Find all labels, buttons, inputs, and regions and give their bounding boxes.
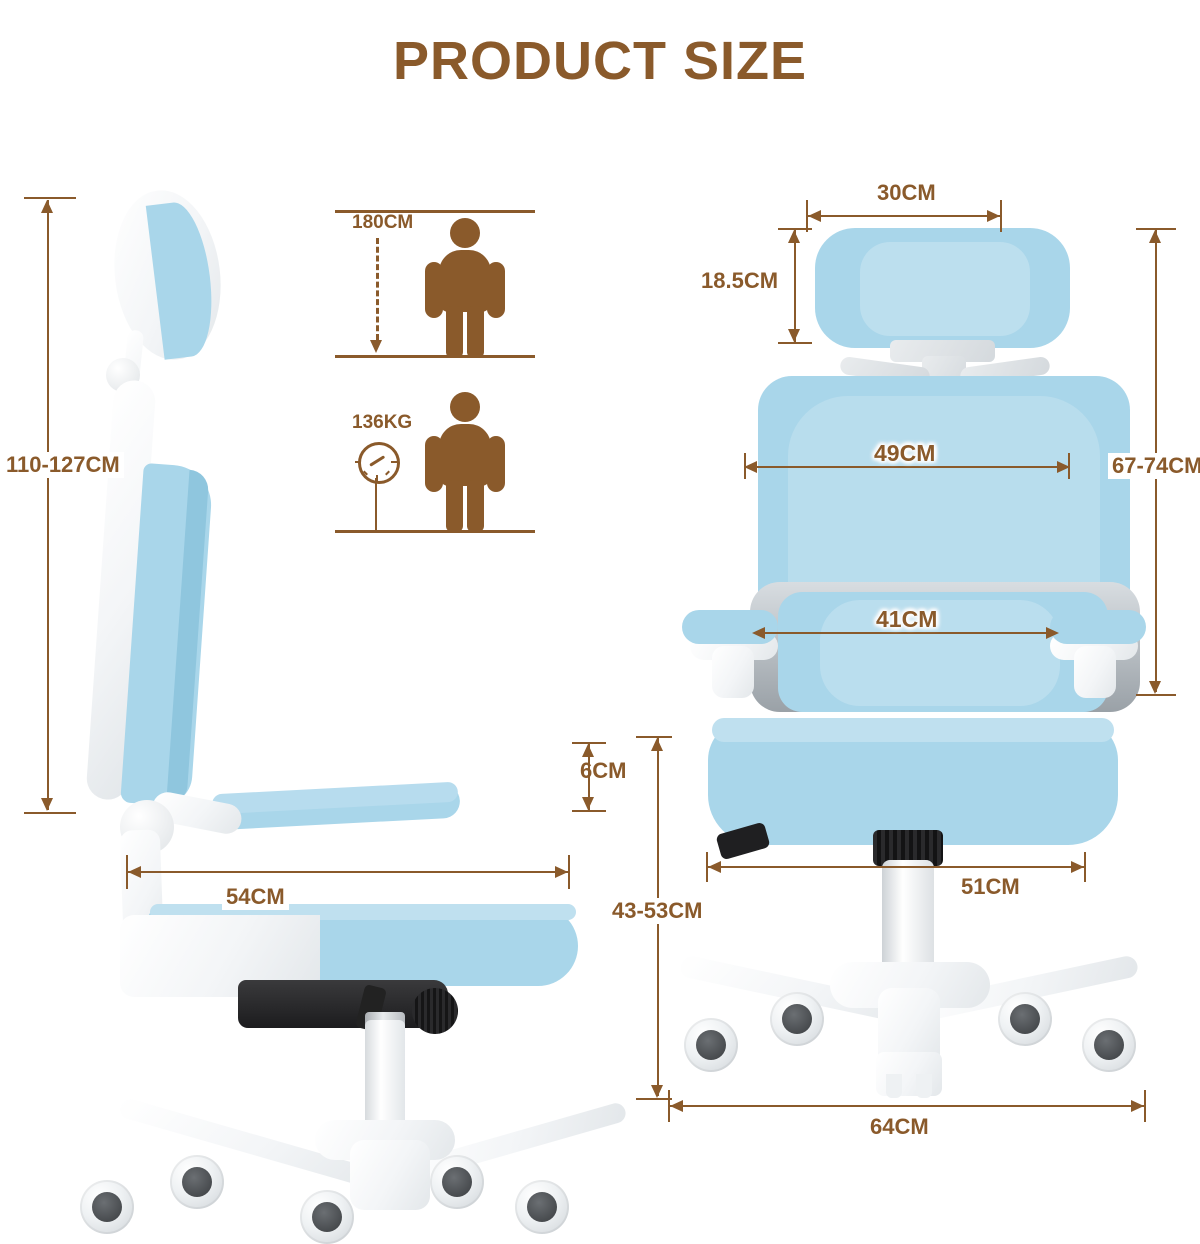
seat-height-label: 43-53CM (608, 898, 706, 924)
overall-height-bottom-tick (24, 812, 76, 814)
seat-height-arrow-up (651, 738, 663, 751)
headrest-height-arrow-down (788, 329, 800, 342)
headrest-height-arrow-up (788, 230, 800, 243)
base-diameter-arrow-right (1131, 1100, 1144, 1112)
height-arrow-down (370, 340, 382, 353)
caster-wheel (770, 992, 824, 1046)
headrest-width-label: 30CM (873, 180, 940, 206)
headrest-height-label: 18.5CM (697, 268, 782, 294)
backrest-height-arrow-down (1149, 681, 1161, 694)
seat-width-label: 51CM (957, 874, 1024, 900)
caster-fork-front (876, 1052, 942, 1096)
overall-height-line (47, 200, 49, 810)
height-label: 180CM (352, 212, 413, 234)
headrest-width-line (808, 215, 1000, 217)
seat-highlight-front (712, 718, 1114, 742)
armrest-post-left-front (712, 646, 754, 698)
caster-wheel (998, 992, 1052, 1046)
page-title: PRODUCT SIZE (0, 30, 1200, 92)
overall-height-label: 110-127CM (2, 452, 124, 478)
seat-width-arrow-right (1071, 861, 1084, 873)
headrest-width-arrow-right (987, 210, 1000, 222)
seat-depth-arrow-right (555, 866, 568, 878)
seat-thickness-arrow-up (582, 744, 594, 757)
lumbar-width-arrow-right (1046, 627, 1059, 639)
lumbar-width-label: 41CM (876, 606, 937, 633)
backrest-width-left-tick (744, 453, 746, 479)
seat-depth-arrow-left (128, 866, 141, 878)
backrest-width-right-tick (1068, 453, 1070, 479)
person-icon (425, 218, 505, 358)
gas-cylinder-front (882, 860, 934, 970)
caster-wheel (1082, 1018, 1136, 1072)
person-icon (425, 392, 505, 532)
seat-height-bottom-tick (636, 1098, 672, 1100)
overall-height-arrow-down (41, 798, 53, 811)
overall-height-arrow-up (41, 200, 53, 213)
caster-wheel (684, 1018, 738, 1072)
seat-depth-label: 54CM (222, 884, 289, 910)
height-dashed-line (376, 238, 379, 340)
base-diameter-label: 64CM (866, 1114, 933, 1140)
base-diameter-arrow-left (670, 1100, 683, 1112)
headrest-height-bottom-tick (778, 342, 812, 344)
caster-wheel (80, 1180, 134, 1234)
seat-thickness-bottom-tick (572, 810, 606, 812)
weight-label: 136KG (352, 412, 412, 434)
seat-width-line (708, 866, 1084, 868)
armrest-post-right-front (1074, 646, 1116, 698)
weight-scale-icon (358, 442, 400, 484)
backrest-height-label: 67-74CM (1108, 453, 1200, 479)
headrest-height-line (794, 230, 796, 342)
overall-height-top-tick (24, 197, 76, 199)
caster-wheel (515, 1180, 569, 1234)
base-diameter-right-tick (1144, 1090, 1146, 1122)
backrest-height-bottom-tick (1136, 694, 1176, 696)
lumbar-width-arrow-left (752, 627, 765, 639)
seat-width-right-tick (1084, 852, 1086, 882)
lumbar-inner-front (820, 600, 1060, 706)
seat-depth-right-tick (568, 855, 570, 889)
seat-width-arrow-left (708, 861, 721, 873)
backrest-height-arrow-up (1149, 230, 1161, 243)
chair-front-view (660, 180, 1160, 1110)
spec-icons-group: 180CM 136KG (330, 190, 560, 580)
base-diameter-line (670, 1105, 1144, 1107)
headrest-width-arrow-left (808, 210, 821, 222)
seat-height-arrow-down (651, 1085, 663, 1098)
weight-scale-pole (375, 478, 377, 530)
backrest-width-label: 49CM (874, 440, 935, 467)
caster-wheel (430, 1155, 484, 1209)
armrest-pad-right-front (1050, 610, 1146, 644)
seat-thickness-label: 6CM (580, 758, 626, 784)
seat-depth-line (128, 871, 568, 873)
seat-thickness-arrow-down (582, 797, 594, 810)
headrest-inner-front (860, 242, 1030, 336)
tension-knob-side (412, 988, 458, 1034)
caster-wheel (300, 1190, 354, 1244)
headrest-width-right-tick (1000, 200, 1002, 232)
caster-wheel (170, 1155, 224, 1209)
